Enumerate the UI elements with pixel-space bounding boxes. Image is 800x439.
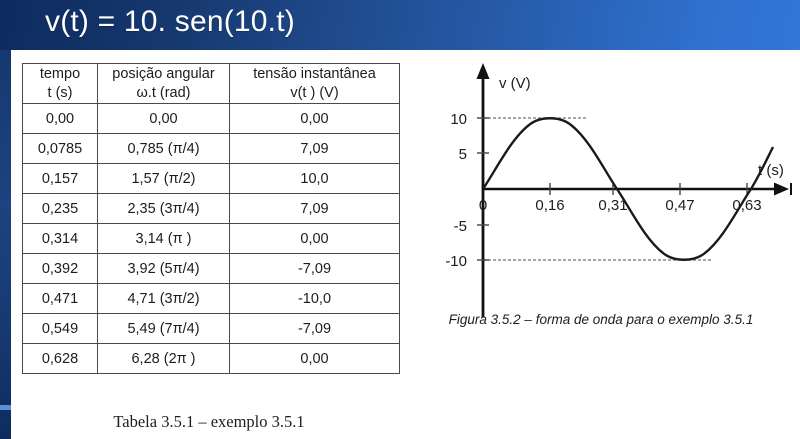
left-accent-band	[0, 50, 11, 439]
table-caption: Tabela 3.5.1 – exemplo 3.5.1	[22, 412, 396, 432]
y-tick-label-minus5: -5	[454, 218, 467, 235]
cell-posicao: 1,57 (π/2)	[98, 164, 230, 194]
cell-tensao: -7,09	[230, 314, 400, 344]
header-posicao-line1: posição angular	[98, 65, 229, 84]
data-table-container: tempo t (s) posição angular ω.t (rad) te…	[22, 63, 396, 374]
header-tempo-line2: t (s)	[23, 84, 97, 103]
table-row: 0,314 3,14 (π ) 0,00	[23, 224, 400, 254]
x-tick-label-031: 0,31	[598, 197, 627, 214]
table-header-tempo: tempo t (s)	[23, 64, 98, 104]
header-tensao-line1: tensão instantânea	[230, 65, 399, 84]
cell-posicao: 0,00	[98, 104, 230, 134]
x-tick-label-047: 0,47	[665, 197, 694, 214]
cell-tempo: 0,549	[23, 314, 98, 344]
y-tick-label-5: 5	[459, 146, 467, 163]
cell-posicao: 0,785 (π/4)	[98, 134, 230, 164]
y-axis-arrow	[477, 63, 490, 79]
slide: v(t) = 10. sen(10.t) tempo t (s) posição…	[0, 0, 800, 439]
table-header-row: tempo t (s) posição angular ω.t (rad) te…	[23, 64, 400, 104]
header-tensao-line2: v(t ) (V)	[230, 84, 399, 103]
table-row: 0,628 6,28 (2π ) 0,00	[23, 344, 400, 374]
x-tick-label-0: 0	[479, 197, 487, 214]
cell-tempo: 0,0785	[23, 134, 98, 164]
slide-header: v(t) = 10. sen(10.t)	[0, 0, 800, 50]
cell-posicao: 6,28 (2π )	[98, 344, 230, 374]
header-tempo-line1: tempo	[23, 65, 97, 84]
cell-tempo: 0,00	[23, 104, 98, 134]
x-axis-arrow	[774, 183, 789, 196]
cell-posicao: 4,71 (3π/2)	[98, 284, 230, 314]
y-axis-label: v (V)	[499, 75, 531, 92]
cell-tensao: -10,0	[230, 284, 400, 314]
y-tick-label-minus10: -10	[445, 253, 467, 270]
table-row: 0,0785 0,785 (π/4) 7,09	[23, 134, 400, 164]
cell-tempo: 0,314	[23, 224, 98, 254]
table-row: 0,00 0,00 0,00	[23, 104, 400, 134]
table-row: 0,157 1,57 (π/2) 10,0	[23, 164, 400, 194]
x-tick-label-016: 0,16	[535, 197, 564, 214]
slide-body: tempo t (s) posição angular ω.t (rad) te…	[11, 50, 800, 439]
x-tick-label-063: 0,63	[732, 197, 761, 214]
cell-tensao: 0,00	[230, 344, 400, 374]
cell-tempo: 0,235	[23, 194, 98, 224]
cell-tensao: 7,09	[230, 194, 400, 224]
table-header-tensao-instantanea: tensão instantânea v(t ) (V)	[230, 64, 400, 104]
waveform-svg: v (V) t (s) 10 5 -5 -10 0 0,16 0,31 0,47…	[411, 55, 800, 325]
left-band-marker	[0, 405, 11, 410]
y-tick-label-10: 10	[450, 111, 467, 128]
page-title: v(t) = 10. sen(10.t)	[45, 5, 295, 39]
table-row: 0,235 2,35 (3π/4) 7,09	[23, 194, 400, 224]
figure-caption: Figura 3.5.2 – forma de onda para o exem…	[411, 312, 791, 327]
data-table: tempo t (s) posição angular ω.t (rad) te…	[22, 63, 400, 374]
cell-tempo: 0,471	[23, 284, 98, 314]
cell-tensao: 7,09	[230, 134, 400, 164]
cell-tempo: 0,628	[23, 344, 98, 374]
cell-tensao: 10,0	[230, 164, 400, 194]
table-row: 0,471 4,71 (3π/2) -10,0	[23, 284, 400, 314]
cell-tensao: 0,00	[230, 104, 400, 134]
cell-posicao: 5,49 (7π/4)	[98, 314, 230, 344]
cell-tensao: 0,00	[230, 224, 400, 254]
x-axis-label: t (s)	[758, 162, 784, 179]
table-row: 0,392 3,92 (5π/4) -7,09	[23, 254, 400, 284]
waveform-chart: v (V) t (s) 10 5 -5 -10 0 0,16 0,31 0,47…	[411, 55, 800, 355]
header-posicao-line2: ω.t (rad)	[98, 84, 229, 103]
cell-tensao: -7,09	[230, 254, 400, 284]
table-body: tempo t (s) posição angular ω.t (rad) te…	[23, 64, 400, 374]
cell-posicao: 2,35 (3π/4)	[98, 194, 230, 224]
table-header-posicao-angular: posição angular ω.t (rad)	[98, 64, 230, 104]
table-row: 0,549 5,49 (7π/4) -7,09	[23, 314, 400, 344]
cell-posicao: 3,92 (5π/4)	[98, 254, 230, 284]
cell-tempo: 0,157	[23, 164, 98, 194]
cell-tempo: 0,392	[23, 254, 98, 284]
cell-posicao: 3,14 (π )	[98, 224, 230, 254]
